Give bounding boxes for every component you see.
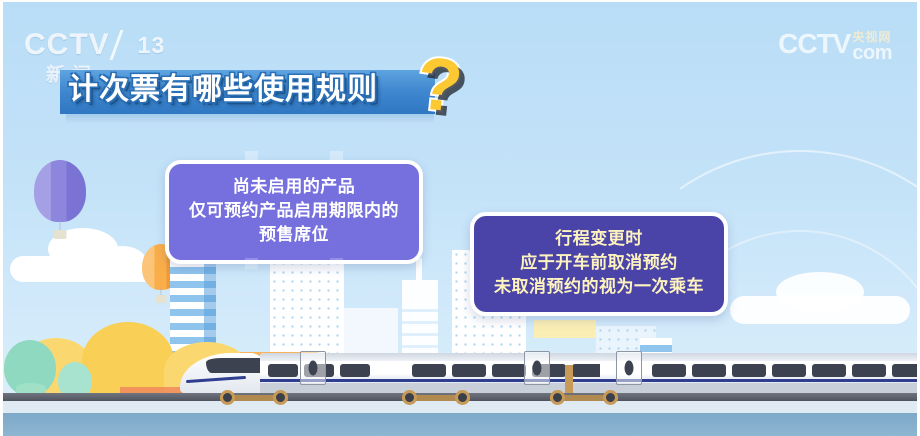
cctv13-logo: CCTV 13 bbox=[24, 28, 165, 62]
callout-2-line-1: 行程变更时 bbox=[494, 227, 704, 251]
page-title: 计次票有哪些使用规则 bbox=[68, 64, 378, 108]
banner-shadow bbox=[66, 114, 434, 123]
train-window bbox=[812, 364, 846, 377]
logo-slash-icon bbox=[109, 30, 133, 60]
train-door bbox=[616, 351, 642, 385]
callout-2-line-3: 未取消预约的视为一次乘车 bbox=[494, 275, 704, 299]
watermark-domain: com bbox=[852, 43, 892, 63]
train-wheel bbox=[603, 390, 618, 405]
water-band bbox=[0, 413, 920, 436]
callout-1-line-2: 仅可预约产品启用期限内的 bbox=[189, 199, 399, 223]
train-wheel bbox=[220, 390, 235, 405]
bush-left-1 bbox=[16, 383, 46, 393]
train-wheel bbox=[402, 390, 417, 405]
train-window bbox=[732, 364, 766, 377]
quote-marks-bottom bbox=[245, 258, 343, 269]
hot-air-balloon-purple bbox=[34, 160, 86, 222]
train-blue-stripe bbox=[600, 379, 920, 382]
train-door-window bbox=[533, 361, 542, 376]
train-coupling-post bbox=[565, 365, 573, 393]
train-window bbox=[452, 364, 486, 377]
train-window bbox=[852, 364, 886, 377]
quote-marks-top bbox=[245, 151, 343, 164]
frame-left bbox=[0, 0, 3, 436]
callout-2-line-2: 应于开车前取消预约 bbox=[494, 251, 704, 275]
callout-box-2: 行程变更时 应于开车前取消预约 未取消预约的视为一次乘车 bbox=[470, 212, 728, 316]
title-banner: 计次票有哪些使用规则 ? bbox=[60, 70, 435, 114]
building-yellow-2 bbox=[534, 320, 596, 338]
train-bogie bbox=[402, 389, 470, 405]
callout-2-bubble: 行程变更时 应于开车前取消预约 未取消预约的视为一次乘车 bbox=[470, 212, 728, 316]
train-skirt bbox=[600, 383, 920, 393]
news-graphic-stage: CCTV 13 新闻 CCTV 央视网 com 计次票有哪些使用规则 ? 尚未启… bbox=[0, 0, 920, 436]
train-window bbox=[652, 364, 686, 377]
callout-box-1: 尚未启用的产品 仅可预约产品启用期限内的 预售席位 bbox=[165, 160, 423, 264]
train-window bbox=[340, 364, 370, 377]
callout-1-line-3: 预售席位 bbox=[189, 223, 399, 247]
train-wheel bbox=[455, 390, 470, 405]
watermark-brand: CCTV bbox=[778, 28, 850, 60]
train-window bbox=[268, 364, 298, 377]
train-window bbox=[492, 364, 526, 377]
train-cab-window bbox=[206, 358, 268, 373]
train-window bbox=[892, 364, 920, 377]
cctv-channel-number: 13 bbox=[133, 32, 166, 59]
train-door-window bbox=[625, 361, 634, 376]
train-roof bbox=[600, 353, 920, 361]
train-right-unit bbox=[600, 349, 920, 393]
train-window bbox=[772, 364, 806, 377]
train-bogie bbox=[550, 389, 618, 405]
frame-top bbox=[0, 0, 920, 2]
train-door-between bbox=[524, 351, 550, 385]
train-wheel bbox=[273, 390, 288, 405]
callout-1-line-1: 尚未启用的产品 bbox=[189, 175, 399, 199]
train-window bbox=[692, 364, 726, 377]
train-wheel bbox=[550, 390, 565, 405]
cctv-com-watermark: CCTV 央视网 com bbox=[778, 28, 892, 63]
callout-1-bubble: 尚未启用的产品 仅可预约产品启用期限内的 预售席位 bbox=[165, 160, 423, 264]
cctv-logo-text: CCTV bbox=[24, 28, 110, 62]
question-mark-icon: ? bbox=[413, 46, 466, 124]
train-window bbox=[412, 364, 446, 377]
train-car-2 bbox=[600, 353, 920, 393]
train-door-window bbox=[309, 361, 318, 376]
train-door bbox=[300, 351, 326, 385]
train-bogie bbox=[220, 389, 288, 405]
